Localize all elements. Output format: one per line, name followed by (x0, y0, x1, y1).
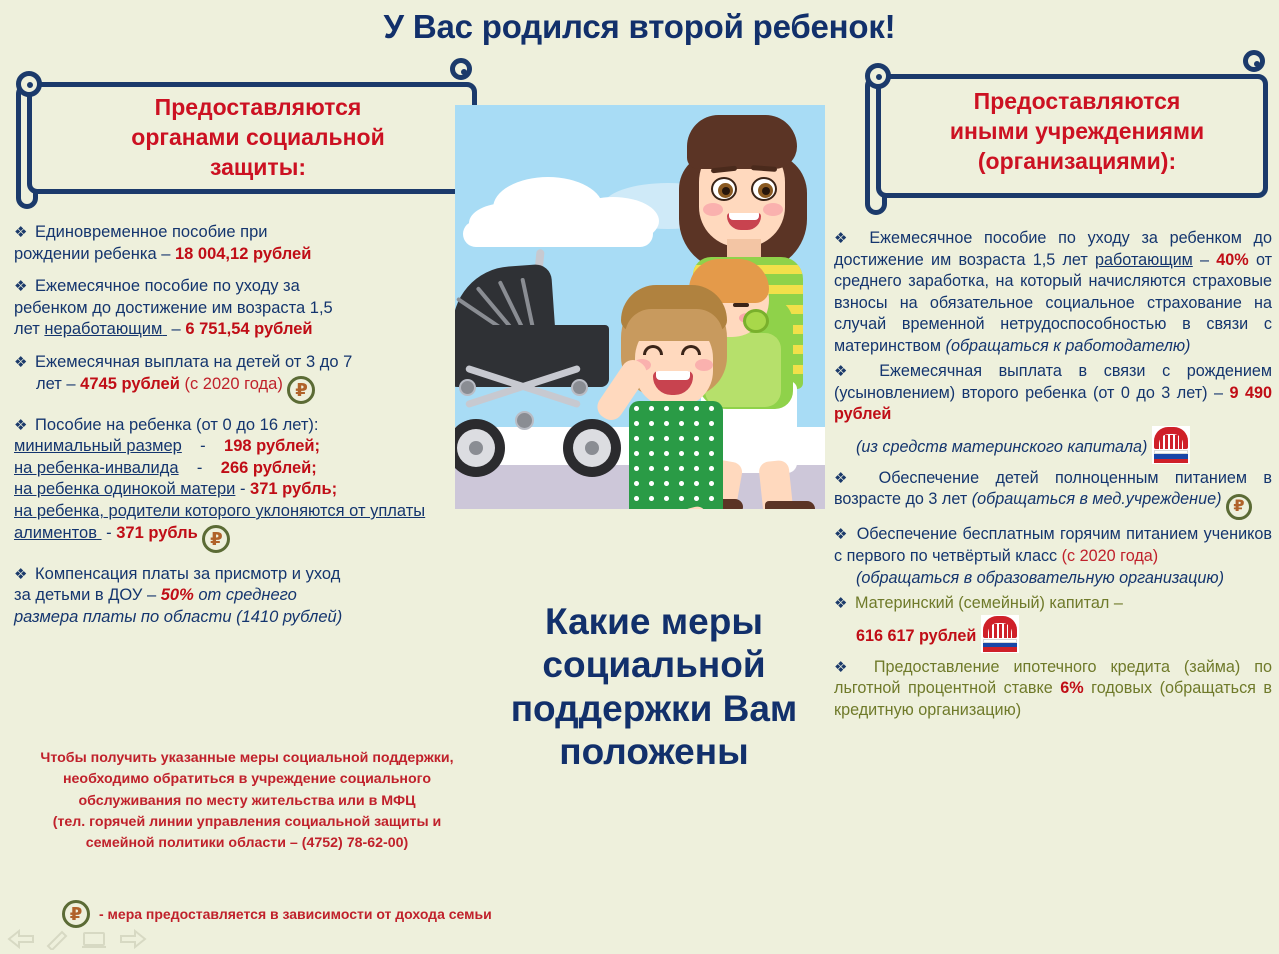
ruble-badge-icon: ₽ (287, 376, 315, 404)
item-text: – (1193, 251, 1216, 269)
diamond-bullet-icon: ❖ (14, 566, 26, 583)
girl-fringe (625, 309, 723, 341)
amount-value: 266 рублей; (221, 459, 317, 477)
emphasis-underline: неработающим (44, 320, 162, 338)
item-text: от среднего (194, 586, 297, 604)
amount-value: 40% (1216, 251, 1248, 269)
item-text: ребенком до достижение им возраста 1,5 (14, 299, 333, 317)
item-text: Единовременное пособие при (35, 223, 267, 241)
list-item: ❖ Пособие на ребенка (от 0 до 16 лет): м… (14, 415, 462, 553)
contact-instructions: Чтобы получить указанные меры социальной… (12, 748, 482, 854)
list-item: ❖ Ежемесячная выплата в связи с рождение… (834, 361, 1272, 464)
item-text: Обеспечение бесплатным горячим питанием … (834, 525, 1272, 565)
amount-value: 371 рубль (116, 524, 198, 542)
page-title: У Вас родился второй ребенок! (0, 8, 1279, 46)
item-note: (обращаться в образовательную организаци… (834, 568, 1272, 590)
amount-value: 6 751,54 рублей (185, 320, 312, 338)
note-line: Чтобы получить указанные меры социальной… (12, 748, 482, 769)
item-text: – (167, 320, 185, 338)
ruble-badge-icon: ₽ (62, 900, 90, 928)
stroller-body (455, 325, 609, 387)
scroll-curl-top-left-icon (16, 71, 42, 97)
diamond-bullet-icon: ❖ (834, 470, 858, 487)
diamond-bullet-icon: ❖ (834, 526, 847, 543)
banner-line: (организациями): (903, 147, 1251, 177)
item-text: Ежемесячная выплата на детей от 3 до 7 (35, 353, 352, 371)
list-item: ❖ Компенсация платы за присмотр и уход з… (14, 564, 462, 629)
cloud-icon (463, 221, 653, 247)
note-line: (тел. горячей линии управления социально… (12, 812, 482, 833)
infographic-page: У Вас родился второй ребенок! Предоставл… (0, 0, 1279, 954)
item-note: (с 2020 года) (180, 375, 283, 393)
banner-line: защиты: (62, 153, 454, 183)
pfr-logo-icon (981, 615, 1019, 653)
banner-line: Предоставляются (62, 93, 454, 123)
girl-figure (603, 285, 753, 509)
item-note: (из средств материнского капитала) (856, 438, 1147, 456)
item-text: за детьми в ДОУ – (14, 586, 161, 604)
center-heading: Какие меры социальной поддержки Вам поло… (494, 600, 814, 773)
amount-value: 616 617 рублей (856, 627, 976, 645)
family-illustration (455, 105, 825, 509)
pen-icon[interactable] (44, 928, 70, 950)
diamond-bullet-icon: ❖ (834, 595, 846, 612)
diamond-bullet-icon: ❖ (14, 354, 26, 371)
stroller-joint (571, 379, 588, 396)
scroll-curl-top-left-icon (865, 63, 891, 89)
note-line: обслуживания по месту жительства или в М… (12, 791, 482, 812)
mother-cheek (703, 203, 723, 216)
item-text: Пособие на ребенка (от 0 до 16 лет): (35, 416, 318, 434)
amount-value: 198 рублей; (224, 437, 320, 455)
item-text: Ежемесячная выплата в связи с рождением … (834, 362, 1272, 402)
diamond-bullet-icon: ❖ (834, 659, 856, 676)
banner-line: органами социальной (62, 123, 454, 153)
diamond-bullet-icon: ❖ (14, 278, 26, 295)
list-item: ❖ Обеспечение детей полноценным питанием… (834, 468, 1272, 521)
item-text: размера платы по области (1410 рублей) (14, 608, 342, 626)
amount-value: 6% (1060, 679, 1083, 697)
girl-dress (629, 401, 723, 509)
list-item: ❖ Ежемесячное пособие по уходу за ребенк… (834, 228, 1272, 357)
stroller-joint (459, 379, 476, 396)
diamond-bullet-icon: ❖ (14, 417, 26, 434)
diamond-bullet-icon: ❖ (14, 224, 26, 241)
item-text: Компенсация платы за присмотр и уход (35, 565, 340, 583)
mother-eye (751, 177, 777, 201)
note-line: семейной политики области – (4752) 78-62… (12, 833, 482, 854)
note-line: необходимо обратиться в учреждение социа… (12, 769, 482, 790)
list-item: ❖ Ежемесячная выплата на детей от 3 до 7… (14, 352, 462, 404)
stroller-joint (515, 411, 534, 430)
ruble-badge-icon: ₽ (202, 525, 230, 553)
banner-line: иными учреждениями (903, 117, 1251, 147)
amount-value: 50% (161, 586, 194, 604)
amount-value: 18 004,12 рублей (175, 245, 311, 263)
item-note: (с 2020 года) (1062, 547, 1159, 565)
pfr-logo-icon (1152, 426, 1190, 464)
list-item: ❖ Ежемесячное пособие по уходу за ребенк… (14, 276, 462, 341)
right-panel-banner: Предоставляются иными учреждениями (орга… (876, 74, 1268, 198)
diamond-bullet-icon: ❖ (834, 230, 854, 247)
girl-cheek (695, 359, 713, 371)
mother-eye (711, 177, 737, 201)
emphasis-underline: работающим (1095, 251, 1193, 269)
heading-line: Какие меры (494, 600, 814, 643)
right-panel-banner-title: Предоставляются иными учреждениями (орга… (881, 79, 1263, 177)
row-label: минимальный размер (14, 437, 182, 455)
item-text: лет – (14, 375, 80, 393)
left-benefits-list: ❖ Единовременное пособие при рождении ре… (14, 222, 462, 640)
list-item: ❖ Единовременное пособие при рождении ре… (14, 222, 462, 265)
back-arrow-icon[interactable] (6, 928, 36, 950)
mother-fringe (687, 115, 797, 169)
legend-text: - мера предоставляется в зависимости от … (99, 906, 492, 922)
banner-line: Предоставляются (903, 87, 1251, 117)
item-text: лет (14, 320, 44, 338)
heading-line: положены (494, 730, 814, 773)
scroll-curl-top-right-icon (1243, 50, 1265, 72)
heading-line: социальной (494, 643, 814, 686)
amount-value: 4745 рублей (80, 375, 180, 393)
ruble-badge-icon: ₽ (1226, 494, 1252, 520)
row-label: на ребенка-инвалида (14, 459, 179, 477)
item-text: Материнский (семейный) капитал – (855, 594, 1123, 612)
mother-sandal (765, 501, 815, 509)
right-benefits-list: ❖ Ежемесячное пособие по уходу за ребенк… (834, 228, 1272, 725)
item-text: рождении ребенка – (14, 245, 175, 263)
diamond-bullet-icon: ❖ (834, 363, 859, 380)
left-panel-banner: Предоставляются органами социальной защи… (27, 82, 477, 194)
legend: ₽ - мера предоставляется в зависимости о… (62, 900, 492, 928)
left-panel-banner-title: Предоставляются органами социальной защи… (32, 87, 472, 183)
forward-arrow-icon[interactable] (118, 928, 148, 950)
scroll-curl-top-right-icon (450, 58, 472, 80)
list-item: ❖ Предоставление ипотечного кредита (зай… (834, 657, 1272, 722)
list-item: ❖ Обеспечение бесплатным горячим питание… (834, 524, 1272, 589)
list-item: ❖ Материнский (семейный) капитал – 616 6… (834, 593, 1272, 653)
row-label: на ребенка одинокой матери (14, 480, 235, 498)
presentation-icon[interactable] (80, 928, 108, 950)
mother-cheek (763, 203, 783, 216)
amount-value: 371 рубль; (250, 480, 337, 498)
item-note: (обращаться к работодателю) (946, 337, 1191, 355)
heading-line: поддержки Вам (494, 687, 814, 730)
item-note: (обращаться в мед.учреждение) (972, 490, 1222, 508)
item-text: Ежемесячное пособие по уходу за (35, 277, 300, 295)
stroller-wheel (455, 419, 505, 477)
